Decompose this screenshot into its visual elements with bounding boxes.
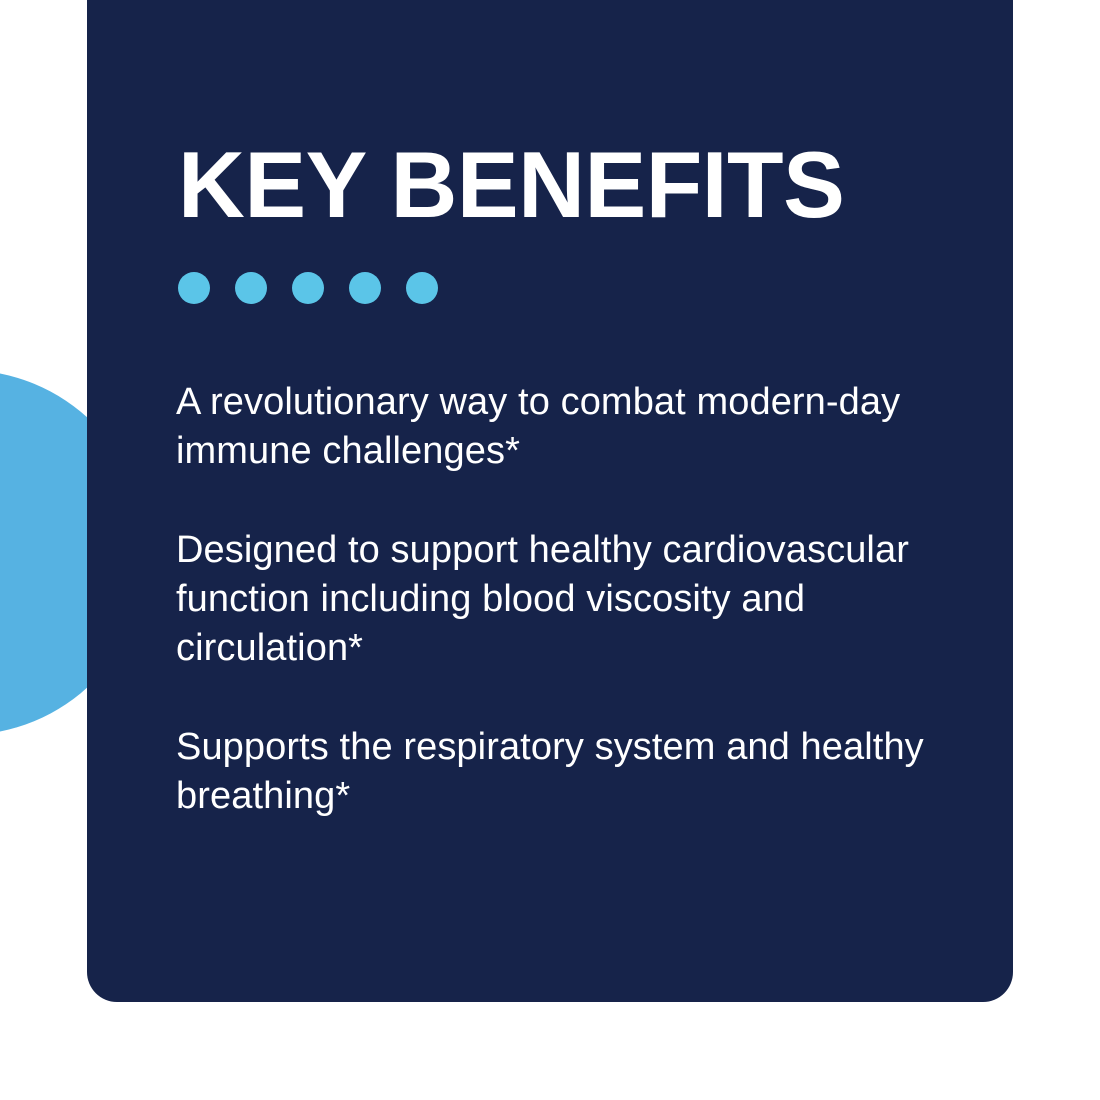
divider-dot-1 [178, 272, 210, 304]
dot-divider [178, 272, 438, 304]
benefit-item-2: Designed to support healthy cardiovascul… [176, 526, 951, 673]
benefit-item-1: A revolutionary way to combat modern-day… [176, 378, 951, 476]
divider-dot-3 [292, 272, 324, 304]
divider-dot-5 [406, 272, 438, 304]
benefits-list: A revolutionary way to combat modern-day… [176, 378, 951, 821]
divider-dot-4 [349, 272, 381, 304]
benefit-item-3: Supports the respiratory system and heal… [176, 723, 951, 821]
key-benefits-graphic: KEY BENEFITS A revolutionary way to comb… [0, 0, 1100, 1100]
page-title: KEY BENEFITS [178, 138, 844, 232]
divider-dot-2 [235, 272, 267, 304]
key-benefits-card: KEY BENEFITS A revolutionary way to comb… [87, 0, 1013, 1002]
